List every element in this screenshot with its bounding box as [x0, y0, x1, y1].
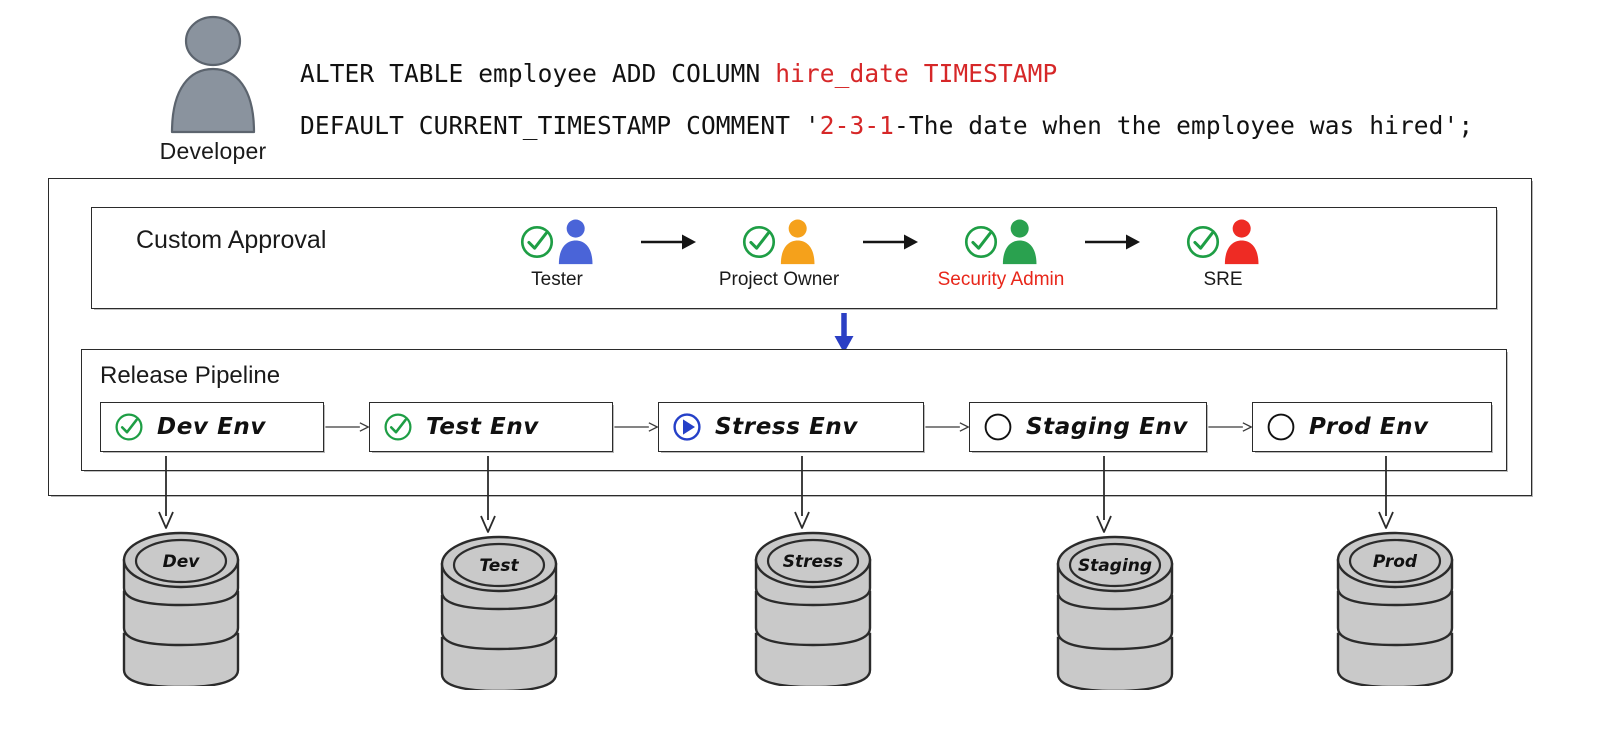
approver-icons	[740, 216, 817, 268]
pipeline-stage-label: Test Env	[426, 414, 539, 440]
approver-tester[interactable]: Tester	[482, 216, 632, 291]
pipeline-flow-arrow	[324, 417, 369, 437]
play-circle-icon	[671, 411, 703, 443]
check-circle-icon	[1184, 223, 1222, 261]
approver-row: TesterProject OwnerSecurity AdminSRE	[482, 216, 1482, 308]
sql-token-0: DEFAULT CURRENT_TIMESTAMP COMMENT '	[300, 111, 820, 140]
person-icon	[1000, 218, 1039, 266]
check-circle-icon	[113, 411, 145, 443]
approver-flow-arrow	[854, 216, 926, 268]
approver-flow-arrow	[1076, 216, 1148, 268]
workflow-container: Custom Approval TesterProject OwnerSecur…	[48, 178, 1532, 496]
developer-actor: Developer	[148, 14, 278, 165]
arrow-right-icon	[639, 231, 697, 253]
sql-statement: ALTER TABLE employee ADD COLUMN hire_dat…	[300, 48, 1530, 152]
empty-circle-icon	[1265, 411, 1297, 443]
pipeline-flow-arrow	[924, 417, 969, 437]
sql-token-0: ALTER TABLE employee ADD COLUMN	[300, 59, 775, 88]
pipeline-stage-dev-env[interactable]: Dev Env	[100, 402, 324, 452]
database-prod[interactable]: Prod	[1320, 530, 1470, 691]
arrow-right-icon	[324, 418, 369, 436]
empty-circle-icon	[982, 411, 1014, 443]
database-cylinder-icon	[424, 534, 574, 690]
pipeline-stage-label: Prod Env	[1309, 414, 1429, 440]
database-staging[interactable]: Staging	[1040, 534, 1190, 695]
sql-line-2: DEFAULT CURRENT_TIMESTAMP COMMENT '2-3-1…	[300, 100, 1530, 152]
diagram-canvas: Developer ALTER TABLE employee ADD COLUM…	[0, 0, 1600, 734]
arrow-right-icon	[613, 418, 658, 436]
pipeline-stage-row: Dev EnvTest EnvStress EnvStaging EnvProd…	[100, 400, 1492, 454]
database-cylinder-icon	[106, 530, 256, 686]
database-test[interactable]: Test	[424, 534, 574, 695]
check-circle-icon	[740, 223, 778, 261]
pipeline-stage-label: Dev Env	[157, 414, 266, 440]
approver-project-owner[interactable]: Project Owner	[704, 216, 854, 291]
pipeline-stage-stress-env[interactable]: Stress Env	[658, 402, 924, 452]
database-cylinder-icon	[1320, 530, 1470, 686]
arrow-right-icon	[861, 231, 919, 253]
database-stress[interactable]: Stress	[738, 530, 888, 691]
database-dev[interactable]: Dev	[106, 530, 256, 691]
database-cylinder-icon	[738, 530, 888, 686]
approver-icons	[518, 216, 595, 268]
approver-icons	[1184, 216, 1261, 268]
approver-label: Tester	[531, 269, 583, 291]
check-circle-icon	[382, 411, 414, 443]
pipeline-flow-arrow	[613, 417, 658, 437]
arrow-right-icon	[1083, 231, 1141, 253]
approver-icons	[962, 216, 1039, 268]
arrow-right-icon	[924, 418, 969, 436]
pipeline-stage-label: Staging Env	[1026, 414, 1188, 440]
check-circle-icon	[518, 223, 556, 261]
person-icon	[164, 14, 262, 136]
database-cylinder-icon	[1040, 534, 1190, 690]
sql-token-1: 2-3-1	[820, 111, 894, 140]
person-icon	[778, 218, 817, 266]
pipeline-stage-label: Stress Env	[715, 414, 858, 440]
developer-label: Developer	[148, 138, 278, 165]
approver-flow-arrow	[632, 216, 704, 268]
approver-label: SRE	[1203, 269, 1242, 291]
pipeline-flow-arrow	[1207, 417, 1252, 437]
release-pipeline-panel: Release Pipeline Dev EnvTest EnvStress E…	[81, 349, 1507, 471]
person-icon	[1222, 218, 1261, 266]
sql-token-1: hire_date TIMESTAMP	[775, 59, 1057, 88]
pipeline-stage-test-env[interactable]: Test Env	[369, 402, 613, 452]
approver-label: Project Owner	[719, 269, 839, 291]
approver-security-admin[interactable]: Security Admin	[926, 216, 1076, 291]
pipeline-stage-prod-env[interactable]: Prod Env	[1252, 402, 1492, 452]
approver-label: Security Admin	[938, 269, 1065, 291]
check-circle-icon	[962, 223, 1000, 261]
sql-token-2: -The date when the employee was hired';	[894, 111, 1473, 140]
approver-sre[interactable]: SRE	[1148, 216, 1298, 291]
release-pipeline-title: Release Pipeline	[100, 362, 280, 390]
custom-approval-title: Custom Approval	[136, 226, 326, 255]
sql-line-1: ALTER TABLE employee ADD COLUMN hire_dat…	[300, 48, 1530, 100]
pipeline-stage-staging-env[interactable]: Staging Env	[969, 402, 1207, 452]
person-icon	[556, 218, 595, 266]
custom-approval-panel: Custom Approval TesterProject OwnerSecur…	[91, 207, 1497, 309]
arrow-right-icon	[1207, 418, 1252, 436]
